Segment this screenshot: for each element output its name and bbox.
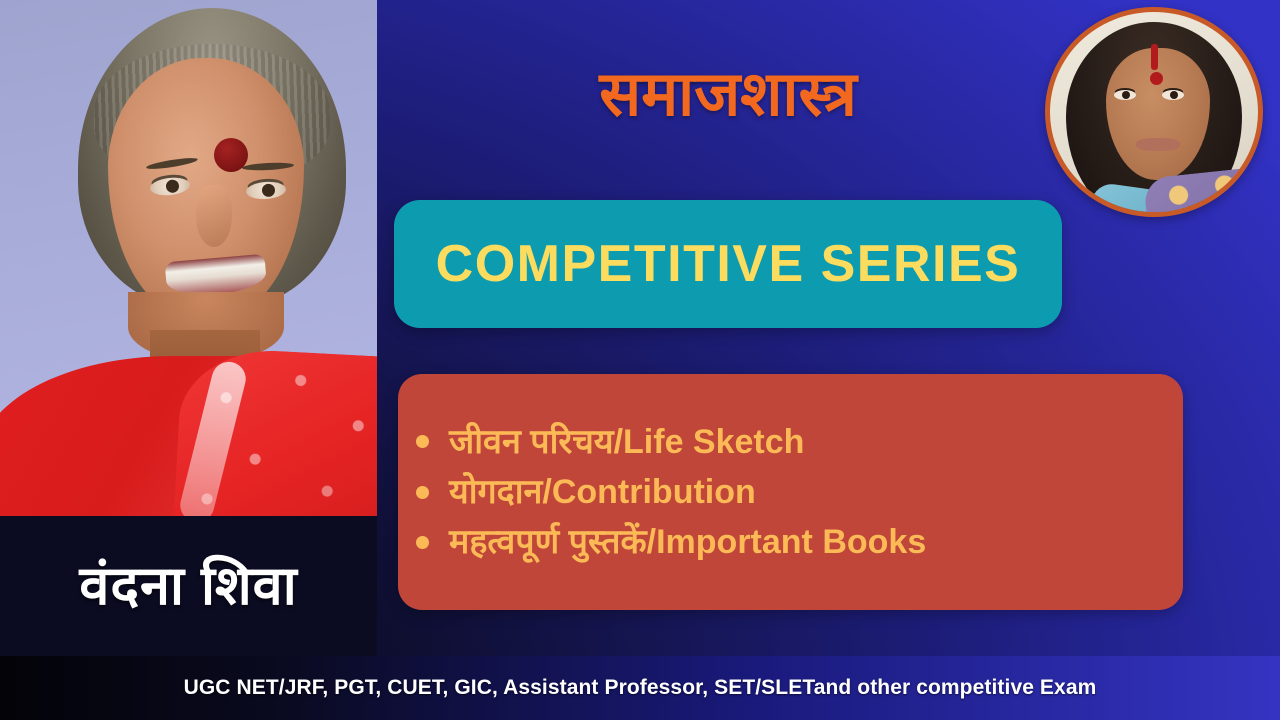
- list-item: जीवन परिचय/Life Sketch: [416, 417, 1161, 467]
- slide-canvas: वंदना शिवा समाजशास्त्र COMPETITIVE SERIE…: [0, 0, 1280, 720]
- subject-name-label: वंदना शिवा: [79, 559, 297, 613]
- competitive-series-label: COMPETITIVE SERIES: [436, 234, 1021, 294]
- bullet-dot-icon: [416, 536, 429, 549]
- competitive-series-banner: COMPETITIVE SERIES: [394, 200, 1062, 328]
- avatar-eye-right: [1162, 90, 1184, 100]
- topics-list: जीवन परिचय/Life Sketch योगदान/Contributi…: [416, 417, 1161, 568]
- topic-label: योगदान/Contribution: [449, 467, 756, 517]
- exam-footer-text: UGC NET/JRF, PGT, CUET, GIC, Assistant P…: [184, 676, 1097, 700]
- subject-portrait-image: [0, 0, 377, 516]
- topics-panel: जीवन परिचय/Life Sketch योगदान/Contributi…: [398, 374, 1183, 610]
- bullet-dot-icon: [416, 435, 429, 448]
- avatar: [1045, 7, 1263, 217]
- portrait-bindi: [214, 138, 248, 172]
- subject-name-strip: वंदना शिवा: [0, 516, 377, 656]
- exam-footer-bar: UGC NET/JRF, PGT, CUET, GIC, Assistant P…: [0, 656, 1280, 720]
- topic-label: महत्वपूर्ण पुस्तकें/Important Books: [449, 517, 926, 567]
- avatar-eye-left: [1114, 90, 1136, 100]
- avatar-bindi: [1150, 72, 1163, 85]
- portrait-nose: [196, 185, 232, 247]
- avatar-sindoor: [1151, 44, 1158, 70]
- list-item: महत्वपूर्ण पुस्तकें/Important Books: [416, 517, 1161, 567]
- avatar-mouth: [1136, 138, 1180, 151]
- list-item: योगदान/Contribution: [416, 467, 1161, 517]
- slide-title: समाजशास्त्र: [398, 58, 1058, 131]
- topic-label: जीवन परिचय/Life Sketch: [449, 417, 804, 467]
- bullet-dot-icon: [416, 486, 429, 499]
